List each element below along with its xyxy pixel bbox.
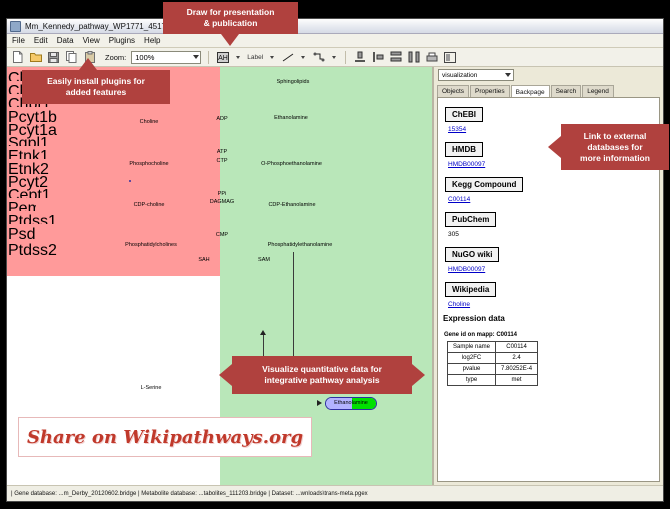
visualization-select[interactable]: visualization: [438, 69, 514, 81]
node-pemt[interactable]: Pemt: [7, 199, 37, 212]
callout-draw-arrow: [221, 34, 239, 46]
table-cell-key: Sample name: [448, 342, 496, 353]
callout-draw-line2: & publication: [204, 18, 258, 29]
label-dropdown-label: Label: [247, 54, 263, 61]
node-label-ptdss1: Ptdss1: [8, 213, 57, 225]
toolbar-separator-2: [345, 51, 346, 64]
callout-links-line2: databases for: [587, 142, 642, 153]
same-width-icon[interactable]: [407, 51, 420, 64]
chevron-down-icon-visualization: [505, 73, 511, 77]
copy-icon[interactable]: [65, 51, 78, 64]
title-bar: Mm_Kennedy_pathway_WP1771_45176.gpml: [7, 19, 663, 34]
stack-vertical-icon[interactable]: [389, 51, 402, 64]
callout-plugins-line1: Easily install plugins for: [47, 76, 145, 87]
callout-plugins-line2: added features: [66, 87, 126, 98]
datanode-dropdown-icon[interactable]: [234, 51, 242, 64]
callout-draw: Draw for presentation & publication: [163, 2, 298, 34]
node-label-etnk1: Etnk1: [8, 148, 49, 160]
table-cell-key: pvalue: [448, 364, 496, 375]
table-row: log2FC 2.4: [448, 353, 538, 364]
node-label-choline-top: Choline: [140, 120, 159, 126]
callout-visualize: Visualize quantitative data for integrat…: [232, 356, 412, 394]
tab-objects[interactable]: Objects: [437, 85, 469, 97]
callout-visualize-arrow-right: [412, 364, 425, 386]
node-label-ptdss2: Ptdss2: [8, 242, 57, 259]
line-icon[interactable]: [281, 51, 294, 64]
align-left-icon[interactable]: [371, 51, 384, 64]
section-link-wikipedia[interactable]: Choline: [448, 301, 659, 308]
table-cell-key: type: [448, 375, 496, 386]
node-label-ethanolamine: Ethanolamine: [274, 116, 308, 122]
node-label-sgpl1: Sgpl1: [8, 135, 49, 147]
node-label-psd: Psd: [8, 226, 36, 243]
node-ptdss1[interactable]: Ptdss1: [7, 212, 67, 225]
connector-dropdown-icon[interactable]: [330, 51, 338, 64]
node-label-ethanolamine-right: Ethanolamine: [334, 401, 368, 407]
node-label-cdp-choline: CDP-choline: [134, 203, 165, 209]
callout-plugins-arrow: [79, 58, 97, 70]
tab-legend[interactable]: Legend: [582, 85, 614, 97]
node-label-o-phosphoethanolamine: O-Phosphoethanolamine: [261, 162, 322, 168]
toolbar-separator: [208, 51, 209, 64]
backpage-section-wikipedia: Wikipedia Choline: [445, 279, 659, 308]
open-icon[interactable]: [29, 51, 42, 64]
save-icon[interactable]: [47, 51, 60, 64]
table-cell-key: log2FC: [448, 353, 496, 364]
node-label-cept1: Cept1: [8, 187, 51, 199]
arrow-right-ethanolamine: [317, 400, 322, 406]
node-label-atp: ATP: [217, 150, 227, 156]
menu-item-edit[interactable]: Edit: [34, 36, 48, 45]
status-bar: | Gene database: ...m_Derby_20120602.bri…: [7, 485, 663, 501]
callout-links-arrow: [548, 136, 561, 158]
section-label-pubchem: PubChem: [445, 212, 496, 227]
table-cell-value: 2.4: [496, 353, 538, 364]
order-icon[interactable]: [443, 51, 456, 64]
node-pcyt1a[interactable]: Pcyt1a: [7, 121, 61, 134]
connector-icon[interactable]: [312, 51, 325, 64]
table-cell-value: 7.80252E-4: [496, 364, 538, 375]
node-label-cdp-ethanolamine: CDP-Ethanolamine: [268, 203, 315, 209]
visualization-select-value: visualization: [442, 72, 477, 79]
section-label-nugo: NuGO wiki: [445, 247, 499, 262]
callout-draw-line1: Draw for presentation: [187, 7, 275, 18]
table-cell-value: C00114: [496, 342, 538, 353]
section-label-chebi: ChEBI: [445, 107, 483, 122]
callout-links-line3: more information: [580, 153, 650, 164]
section-value-pubchem: 305: [448, 231, 659, 238]
callout-links: Link to external databases for more info…: [561, 124, 669, 170]
node-pcyt1b[interactable]: Pcyt1b: [7, 108, 61, 121]
section-link-kegg[interactable]: C00114: [448, 196, 659, 203]
table-cell-value: met: [496, 375, 538, 386]
section-label-hmdb: HMDB: [445, 142, 483, 157]
node-label-adp: ADP: [216, 117, 227, 123]
menu-item-view[interactable]: View: [83, 36, 100, 45]
arrow-up-psd: [260, 330, 266, 335]
node-label-phosphocholine: Phosphocholine: [129, 162, 168, 168]
label-dropdown-icon[interactable]: [268, 51, 276, 64]
gene-id-on-mapp: Gene id on mapp: C00114: [444, 332, 659, 338]
zoom-label: Zoom:: [105, 53, 126, 62]
menu-bar: File Edit Data View Plugins Help: [7, 34, 663, 48]
node-label-sphingolipids: Sphingolipids: [277, 80, 310, 86]
datanode-icon[interactable]: AH: [216, 51, 229, 64]
line-dropdown-icon[interactable]: [299, 51, 307, 64]
node-label-ppi: PPi: [218, 192, 227, 198]
print-icon[interactable]: [425, 51, 438, 64]
side-panel-tabs: Objects Properties Backpage Search Legen…: [437, 84, 660, 98]
node-label-ctp: CTP: [217, 159, 228, 165]
node-label-dagmag: DAGMAG: [210, 200, 234, 206]
backpage-section-kegg: Kegg Compound C00114: [445, 174, 659, 203]
tab-search[interactable]: Search: [551, 85, 582, 97]
align-bottom-icon[interactable]: [353, 51, 366, 64]
section-label-wikipedia: Wikipedia: [445, 282, 496, 297]
callout-share: Share on Wikipathways.org: [18, 417, 312, 457]
menu-item-help[interactable]: Help: [144, 36, 160, 45]
screenshot-root: Mm_Kennedy_pathway_WP1771_45176.gpml Fil…: [0, 0, 670, 509]
section-label-kegg: Kegg Compound: [445, 177, 523, 192]
callout-visualize-line1: Visualize quantitative data for: [262, 364, 382, 375]
node-label-cmp: CMP: [216, 233, 228, 239]
status-bar-text: | Gene database: ...m_Derby_20120602.bri…: [11, 491, 368, 497]
node-label-pemt: Pemt: [8, 200, 37, 212]
node-label-phosphatidylcholines: Phosphatidylcholines: [125, 243, 177, 249]
node-label-sah: SAH: [198, 258, 209, 264]
callout-visualize-line2: integrative pathway analysis: [264, 375, 379, 386]
menu-item-data[interactable]: Data: [57, 36, 74, 45]
backpage-section-nugo: NuGO wiki HMDB00097: [445, 244, 659, 273]
menu-item-file[interactable]: File: [12, 36, 25, 45]
expression-data-header: Expression data: [443, 314, 659, 323]
table-row: Sample name C00114: [448, 342, 538, 353]
callout-plugins: Easily install plugins for added feature…: [22, 70, 170, 104]
zoom-select[interactable]: 100%: [131, 51, 201, 64]
app-icon: [10, 21, 21, 32]
chevron-down-icon: [193, 55, 199, 59]
tab-properties[interactable]: Properties: [470, 85, 510, 97]
svg-text:AH: AH: [218, 55, 228, 62]
backpage-section-pubchem: PubChem 305: [445, 209, 659, 238]
new-icon[interactable]: [11, 51, 24, 64]
table-row: pvalue 7.80252E-4: [448, 364, 538, 375]
menu-item-plugins[interactable]: Plugins: [109, 36, 135, 45]
toolbar: Zoom: 100% AH Label: [7, 48, 663, 67]
table-row: type met: [448, 375, 538, 386]
callout-visualize-arrow-left: [219, 364, 232, 386]
section-link-nugo[interactable]: HMDB00097: [448, 266, 659, 273]
callout-share-text: Share on Wikipathways.org: [27, 427, 303, 448]
callout-links-line1: Link to external: [584, 131, 647, 142]
node-ethanolamine-right[interactable]: Ethanolamine: [325, 397, 377, 410]
zoom-value: 100%: [135, 53, 154, 62]
node-label-phosphatidylethanolamine: Phosphatidylethanolamine: [268, 243, 333, 249]
node-label-l-serine-left: L-Serine: [141, 386, 162, 392]
expression-data-table: Sample name C00114 log2FC 2.4 pvalue 7.8…: [447, 341, 538, 386]
node-label-sam: SAM: [258, 258, 270, 264]
